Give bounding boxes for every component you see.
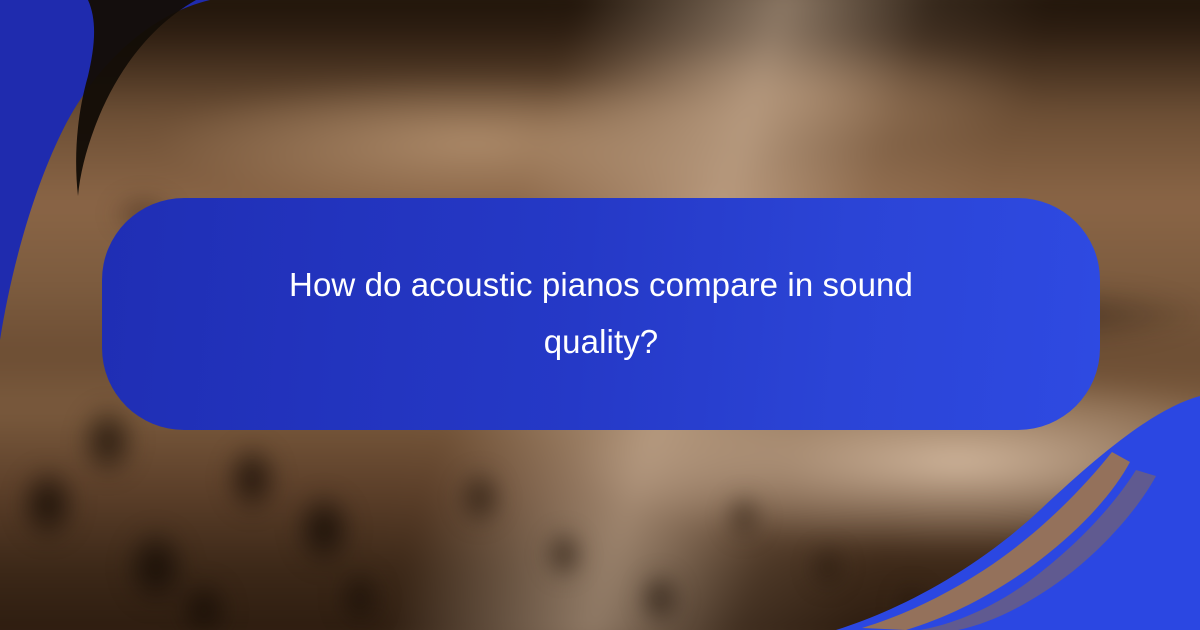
question-card[interactable]: How do acoustic pianos compare in sound … — [102, 198, 1100, 430]
social-card-canvas: How do acoustic pianos compare in sound … — [0, 0, 1200, 630]
question-text: How do acoustic pianos compare in sound … — [231, 257, 971, 371]
